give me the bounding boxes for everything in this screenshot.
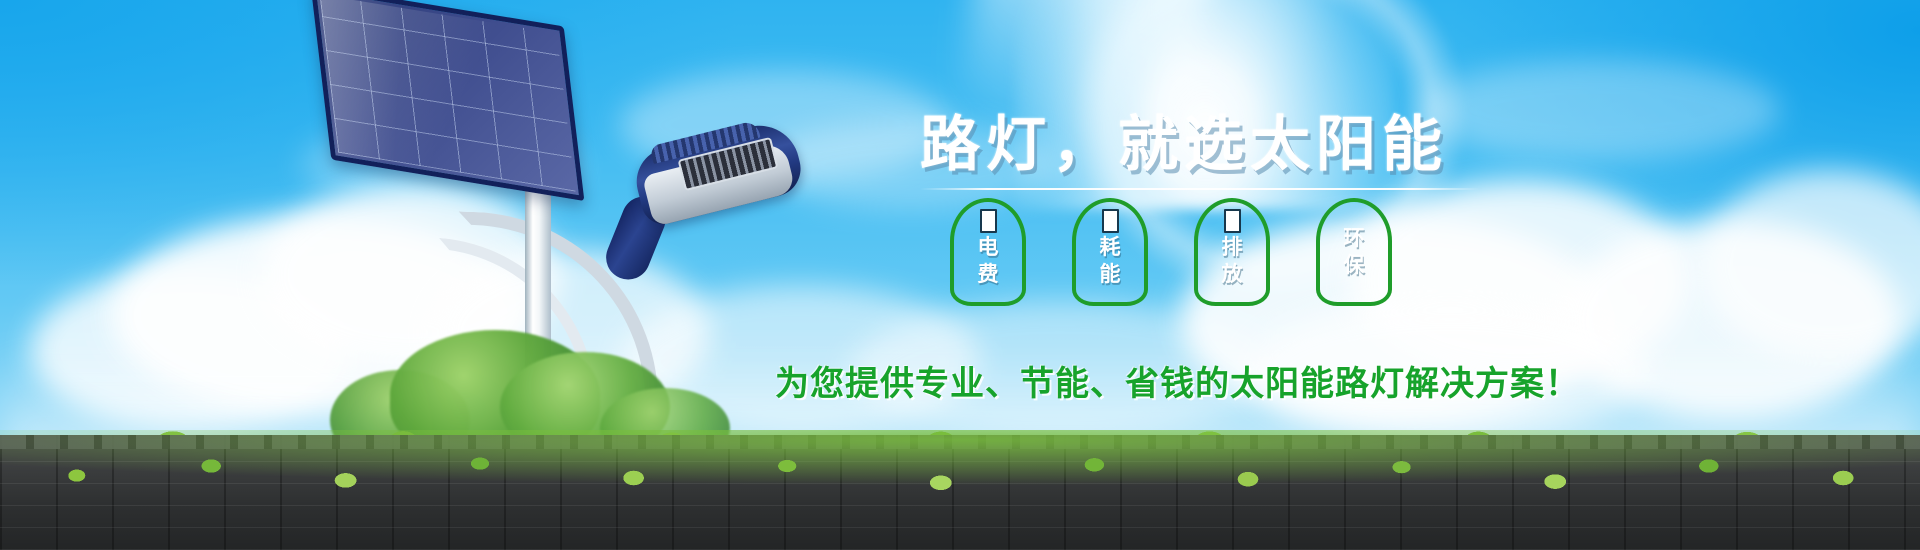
badge-label-line1: 耗 <box>1100 235 1121 260</box>
cloud-wisp <box>1420 60 1780 160</box>
feature-badge-huanbao: 环 保 <box>1316 198 1392 306</box>
badge-label-line2: 费 <box>978 262 999 287</box>
title-divider <box>920 188 1480 190</box>
page-title: 路灯，就选太阳能 <box>920 96 1448 183</box>
badge-label-line2: 放 <box>1222 262 1243 287</box>
feature-badge-haoneng: 耗 能 <box>1072 198 1148 306</box>
feature-badge-paifang: 排 放 <box>1194 198 1270 306</box>
badge-label-line1: 环 <box>1344 226 1365 251</box>
badge-label-line2: 保 <box>1344 253 1365 278</box>
zero-glyph-icon <box>1224 209 1241 233</box>
page-subtitle: 为您提供专业、节能、省钱的太阳能路灯解决方案！ <box>775 356 1580 405</box>
badge-label-line1: 电 <box>978 235 999 260</box>
zero-glyph-icon <box>980 209 997 233</box>
solar-streetlight-banner: 路灯，就选太阳能 电 费 耗 能 排 放 环 保 为您提供专业、节能、省钱的太阳… <box>0 0 1920 550</box>
ivy-vines <box>0 430 1920 550</box>
badge-label-line1: 排 <box>1222 235 1243 260</box>
zero-glyph-icon <box>1102 209 1119 233</box>
badge-label-line2: 能 <box>1100 262 1121 287</box>
feature-badge-dianfei: 电 费 <box>950 198 1026 306</box>
feature-badge-list: 电 费 耗 能 排 放 环 保 <box>950 198 1392 306</box>
